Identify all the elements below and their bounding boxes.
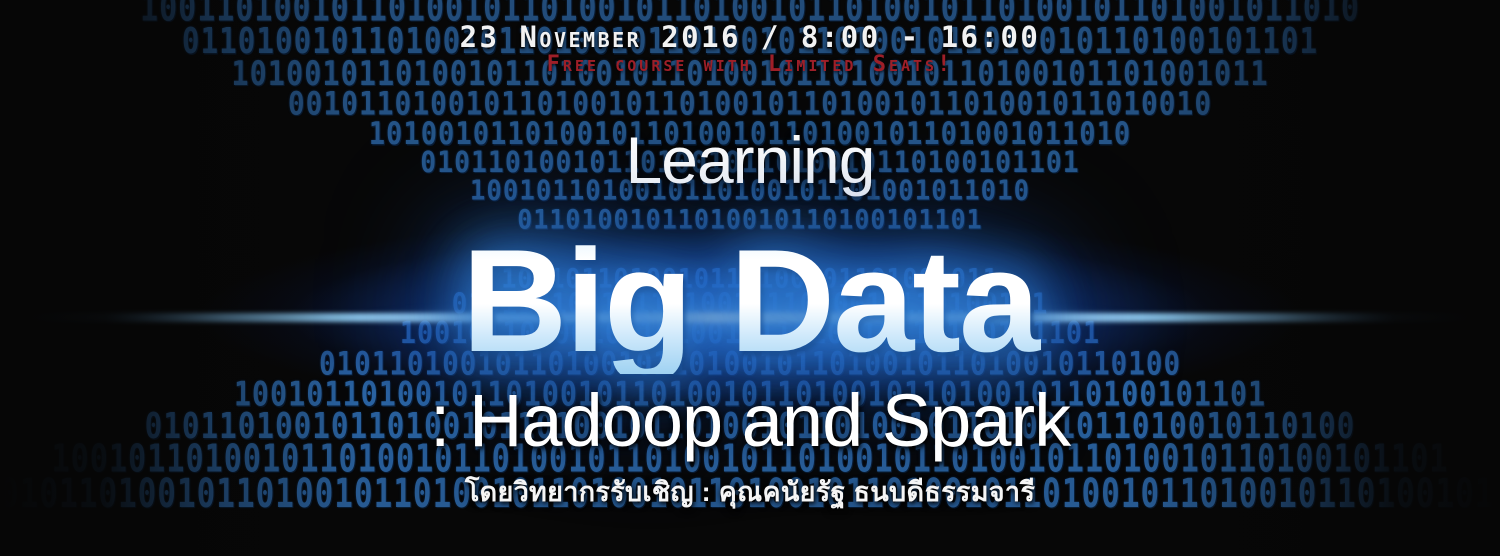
event-banner: 1001101001011010010110100101101001011010… [0, 0, 1500, 556]
page-title: Big Data [0, 228, 1500, 374]
promo-tagline: Free course with Limited Seats! [0, 52, 1500, 77]
event-date-time: 23 November 2016 / 8:00 - 16:00 [0, 20, 1500, 54]
eyebrow-text: Learning [0, 122, 1500, 198]
subtitle-text: : Hadoop and Spark [0, 378, 1500, 463]
speaker-credit: โดยวิทยากรรับเชิญ : คุณคนัยรัฐ ธนบดีธรรม… [0, 470, 1500, 513]
banner-content: 23 November 2016 / 8:00 - 16:00 Free cou… [0, 0, 1500, 556]
